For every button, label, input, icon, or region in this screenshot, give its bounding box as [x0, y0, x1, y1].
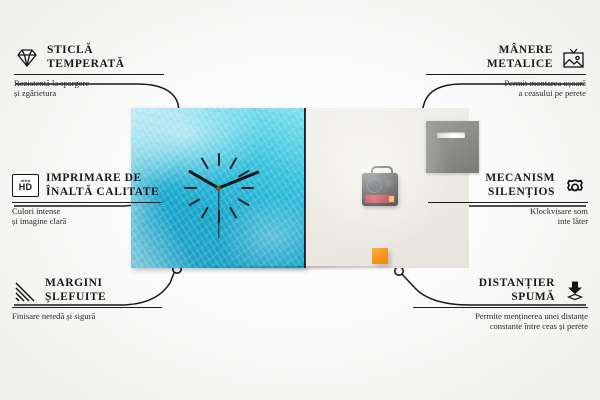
feature-desc-line1: Culori intense	[12, 206, 162, 216]
mechanism-gear	[367, 178, 382, 193]
feature-desc-line2: inte låter	[428, 216, 588, 226]
ultra-hd-icon: ultra HD	[12, 174, 39, 197]
diamond-icon	[14, 47, 40, 69]
metal-hanger-plate	[426, 121, 479, 173]
feature-high-quality-print: ultra HD IMPRIMARE DE ÎNALTĂ CALITATE Cu…	[12, 172, 162, 227]
feature-desc-line2: și imagine clară	[12, 216, 162, 226]
feature-desc-line1: Klockvisare som	[428, 206, 588, 216]
feature-desc-line1: Rezistentă la spargere	[14, 78, 164, 88]
clock-second-hand	[218, 188, 219, 238]
feature-title-line2: TEMPERATĂ	[47, 58, 125, 72]
feature-title-line1: STICLĂ	[47, 44, 125, 58]
feature-title-line1: MÂNERE	[487, 44, 553, 58]
feature-title-line1: DISTANȚIER	[479, 277, 555, 291]
ultra-hd-large-label: HD	[19, 183, 32, 192]
product-photo	[131, 108, 469, 268]
infographic-canvas: STICLĂ TEMPERATĂ Rezistentă la spargere …	[0, 0, 600, 400]
feature-title-line1: MECANISM	[485, 172, 555, 186]
feature-desc-line1: Permit montarea ușoară	[426, 78, 586, 88]
feature-desc-line2: a ceasului pe perete	[426, 88, 586, 98]
feature-title-line2: SILENȚIOS	[485, 186, 555, 200]
feature-title-line2: ÎNALTĂ CALITATE	[46, 186, 159, 200]
clock-mechanism	[362, 173, 398, 206]
gear-icon	[562, 175, 588, 197]
product-shadow	[131, 266, 469, 273]
feature-rule	[428, 202, 588, 203]
feature-title-line1: MARGINI	[45, 277, 106, 291]
feature-desc-line1: Finisare netedă și sigură	[12, 311, 162, 321]
picture-frame-icon	[560, 47, 586, 69]
feature-polished-edges: MARGINI ȘLEFUITE Finisare netedă și sigu…	[12, 277, 162, 321]
feature-title-line2: SPUMĂ	[479, 291, 555, 305]
beveled-edge-icon	[12, 280, 38, 302]
clock-center-cap	[216, 186, 221, 191]
feature-desc-line1: Permite menținerea unei distanțe	[413, 311, 588, 321]
battery	[365, 195, 395, 203]
feature-silent-mechanism: MECANISM SILENȚIOS Klockvisare som inte …	[428, 172, 588, 227]
feature-rule	[426, 74, 586, 75]
feature-metal-handles: MÂNERE METALICE Permit montarea ușoară a…	[426, 44, 586, 99]
mechanism-gear-secondary	[385, 179, 393, 187]
mechanism-hanger-loop	[371, 166, 393, 177]
foam-spacer	[372, 248, 388, 264]
feature-tempered-glass: STICLĂ TEMPERATĂ Rezistentă la spargere …	[14, 44, 164, 99]
feature-desc-line2: și zgârietura	[14, 88, 164, 98]
down-arrow-stack-icon	[562, 280, 588, 302]
feature-foam-spacer: DISTANȚIER SPUMĂ Permite menținerea unei…	[413, 277, 588, 332]
feature-title-line1: IMPRIMARE DE	[46, 172, 159, 186]
feature-rule	[413, 307, 588, 308]
feature-rule	[12, 202, 162, 203]
feature-title-line2: METALICE	[487, 58, 553, 72]
feature-rule	[14, 74, 164, 75]
hanger-slot	[437, 132, 465, 138]
feature-desc-line2: constante între ceas și perete	[413, 321, 588, 331]
feature-title-line2: ȘLEFUITE	[45, 291, 106, 305]
feature-rule	[12, 307, 162, 308]
